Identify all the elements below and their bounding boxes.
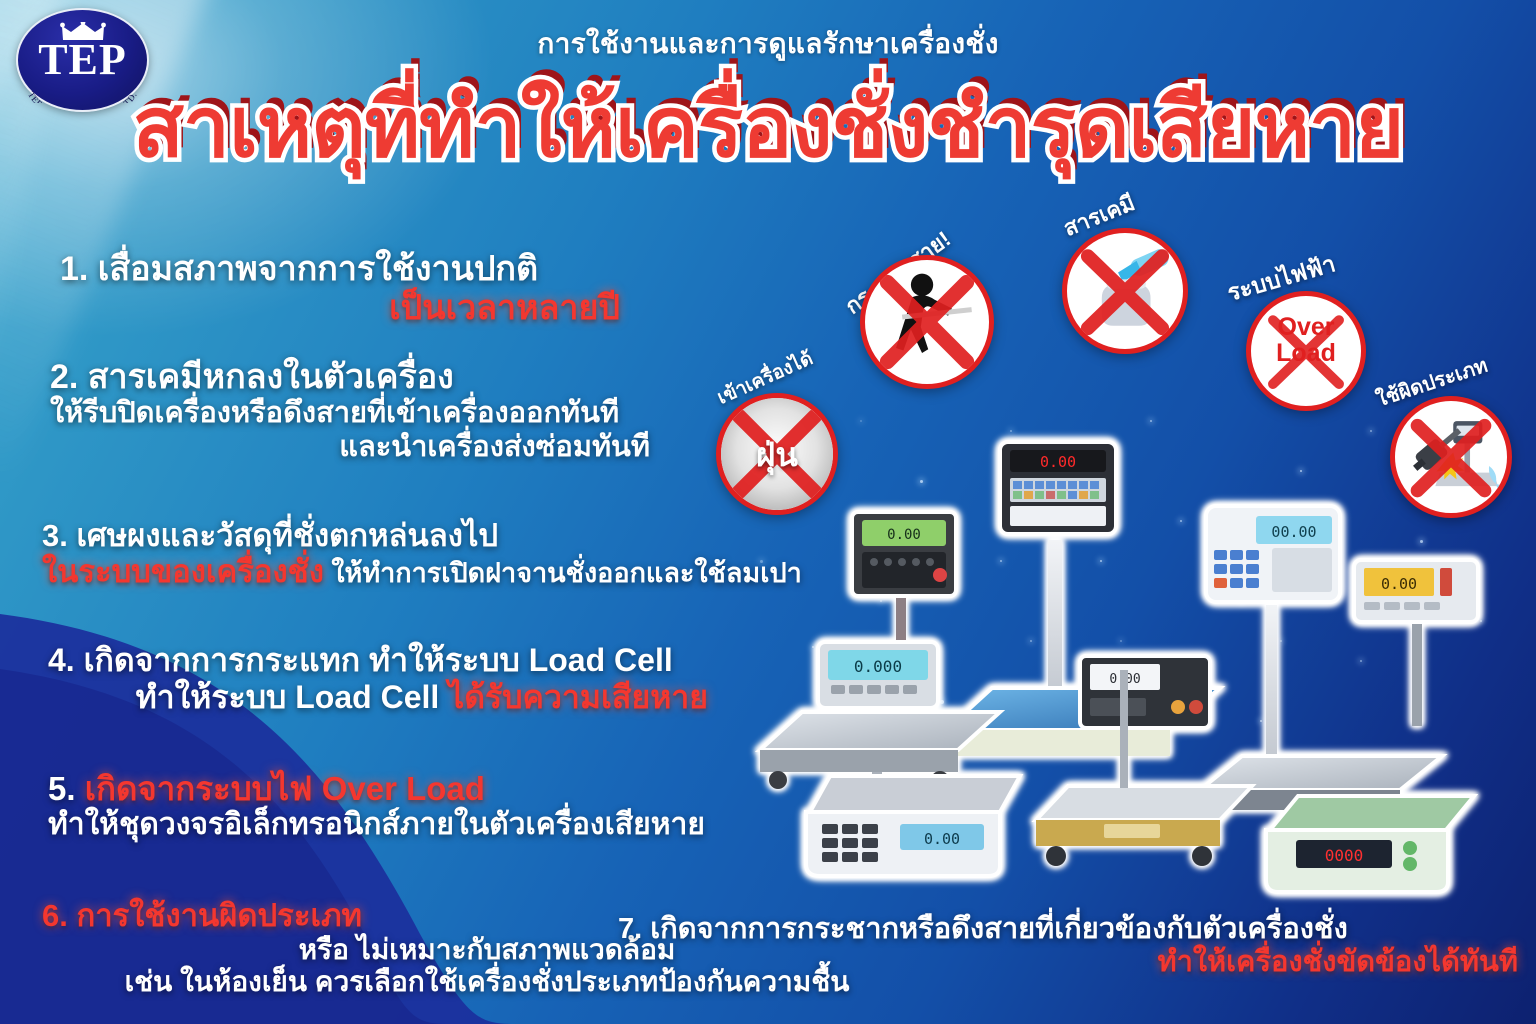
cause-line-text: 3. เศษผงและวัสดุที่ชั่งตกหล่นลงไป <box>42 518 498 553</box>
cause-line-text: 4. เกิดจากการกระแทก ทำให้ระบบ Load Cell <box>48 642 673 678</box>
svg-text:0.00: 0.00 <box>1381 575 1417 593</box>
svg-text:0.00: 0.00 <box>887 527 921 543</box>
cause-line-text: ทำให้ระบบ Load Cell <box>136 679 449 715</box>
cause-line: ทำให้เครื่องชั่งขัดข้องได้ทันที <box>618 946 1518 980</box>
cause-line: และนำเครื่องส่งซ่อมทันที <box>50 431 650 465</box>
badge-electrical-inner-text: OverLoad <box>1251 314 1361 367</box>
page-title-front: สาเหตุที่ทำให้เครื่องชั่งชำรุดเสียหาย <box>133 80 1404 174</box>
cause-item-2: 2. สารเคมีหกลงในตัวเครื่องให้รีบปิดเครื่… <box>50 358 650 465</box>
svg-text:0.000: 0.000 <box>854 657 902 676</box>
svg-text:0.00: 0.00 <box>924 830 960 848</box>
cause-line-text: ให้รีบปิดเครื่องหรือดึงสายที่เข้าเครื่อง… <box>50 397 619 429</box>
no-cable-pull-icon <box>860 255 994 389</box>
no-chemical-icon <box>1062 228 1188 354</box>
no-overload-icon: OverLoad <box>1246 291 1366 411</box>
cause-line: 2. สารเคมีหกลงในตัวเครื่อง <box>50 358 650 397</box>
cause-item-1: 1. เสื่อมสภาพจากการใช้งานปกติเป็นเวลาหลา… <box>60 250 620 329</box>
cause-line: เป็นเวลาหลายปี <box>60 289 620 328</box>
cause-line: 1. เสื่อมสภาพจากการใช้งานปกติ <box>60 250 620 289</box>
cause-line-text: ในระบบของเครื่องชั่ง <box>42 554 324 589</box>
badge-electrical[interactable]: ระบบไฟฟ้า OverLoad <box>1218 255 1393 425</box>
cause-line-suffix: เกิดจากระบบไฟ Over Load <box>85 770 485 807</box>
cause-line-text: 7. เกิดจากการกระชากหรือดึงสายที่เกี่ยวข้… <box>618 913 1348 945</box>
svg-text:0.00: 0.00 <box>1040 453 1076 471</box>
cause-line-text: เป็นเวลาหลายปี <box>389 289 620 327</box>
cause-line: 7. เกิดจากการกระชากหรือดึงสายที่เกี่ยวข้… <box>618 913 1518 947</box>
cause-line: ให้รีบปิดเครื่องหรือดึงสายที่เข้าเครื่อง… <box>50 397 650 431</box>
svg-text:0000: 0000 <box>1325 846 1364 865</box>
cause-line-text: 5. <box>48 770 85 807</box>
svg-text:00.00: 00.00 <box>1271 523 1316 541</box>
badge-chemical[interactable]: สารเคมี <box>1040 192 1210 362</box>
cause-line-suffix: ได้รับความเสียหาย <box>448 679 708 715</box>
cause-line-text: ทำให้เครื่องชั่งขัดข้องได้ทันที <box>1157 946 1518 978</box>
poster-canvas: TEP TEP INNOVATION CO., LTD. การใช้งานแล… <box>0 0 1536 1024</box>
scale-product-cluster: 0.00 0.00 <box>700 420 1536 900</box>
cause-line: 4. เกิดจากการกระแทก ทำให้ระบบ Load Cell <box>48 642 708 679</box>
cause-line-text: และนำเครื่องส่งซ่อมทันที <box>339 431 650 463</box>
cause-line-text: 6. การใช้งานผิดประเภท <box>42 898 362 933</box>
cause-line: ทำให้ระบบ Load Cell ได้รับความเสียหาย <box>48 679 708 716</box>
page-subtitle: การใช้งานและการดูแลรักษาเครื่องชั่ง <box>0 22 1536 66</box>
cause-line-text: ทำให้ชุดวงจรอิเล็กทรอนิกส์ภายในตัวเครื่อ… <box>48 808 705 841</box>
badge-cable-pull[interactable]: กระชากสาย! <box>830 215 1015 400</box>
page-title-wrap: สาเหตุที่ทำให้เครื่องชั่งชำรุดเสียหาย สา… <box>0 85 1536 169</box>
cause-line-text: 2. สารเคมีหกลงในตัวเครื่อง <box>50 358 454 396</box>
cause-item-7: 7. เกิดจากการกระชากหรือดึงสายที่เกี่ยวข้… <box>618 913 1518 980</box>
page-title: สาเหตุที่ทำให้เครื่องชั่งชำรุดเสียหาย สา… <box>133 85 1404 169</box>
cause-item-4: 4. เกิดจากการกระแทก ทำให้ระบบ Load Cellท… <box>48 642 708 716</box>
cause-line-text: 1. เสื่อมสภาพจากการใช้งานปกติ <box>60 250 538 288</box>
